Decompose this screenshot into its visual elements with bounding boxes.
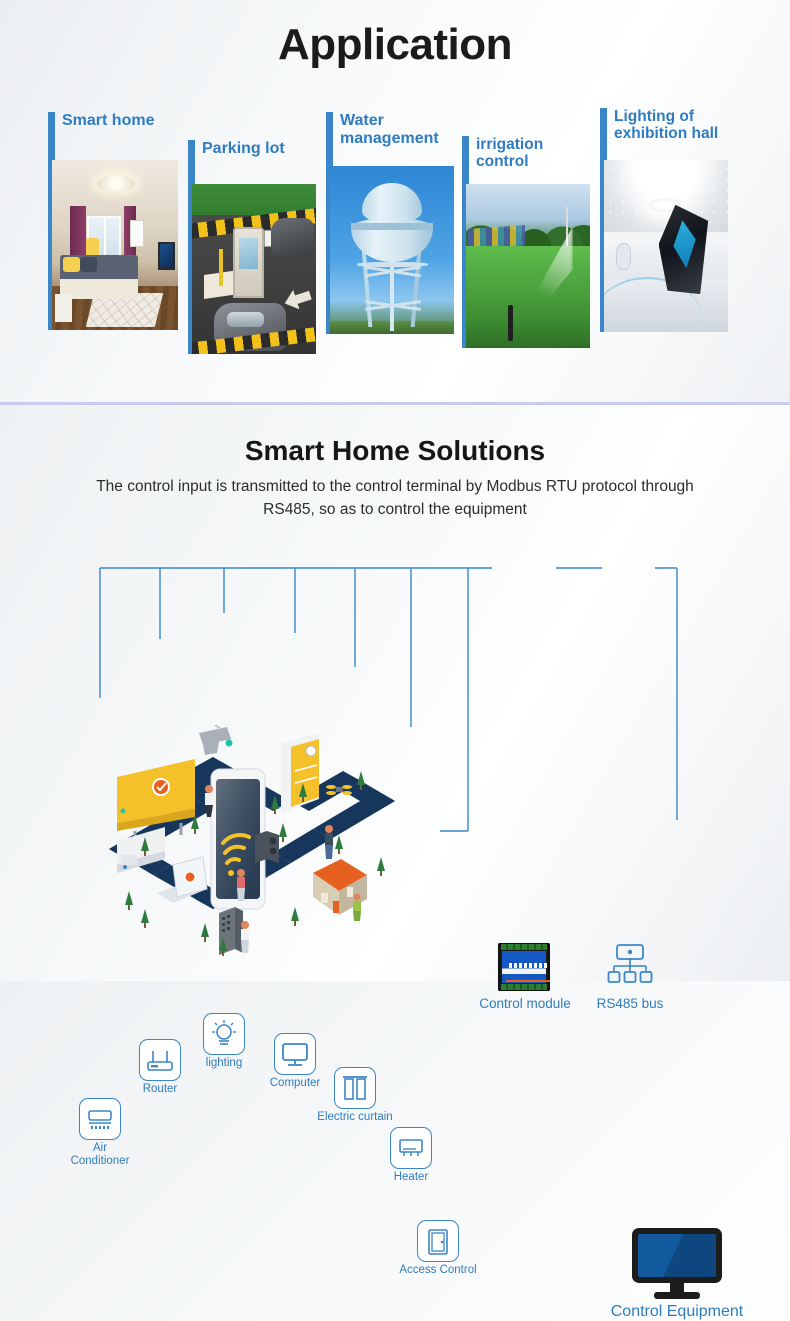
node-label: Router	[90, 1083, 230, 1096]
node-air-conditioner[interactable]: Air Conditioner	[79, 1098, 121, 1140]
application-card-irrigation-control[interactable]: irrigation control	[462, 136, 590, 348]
node-computer[interactable]: Computer	[274, 1033, 316, 1075]
card-label: Lighting of exhibition hall	[614, 108, 718, 143]
smart-home-solutions-section: Smart Home Solutions The control input i…	[0, 405, 790, 981]
node-label: Air Conditioner	[30, 1142, 170, 1168]
parking-lot-barrier-photo	[192, 184, 316, 354]
card-label: Parking lot	[202, 140, 285, 158]
water-tower-photo	[330, 166, 454, 334]
application-card-water-management[interactable]: Water management	[326, 112, 454, 334]
heater-icon	[390, 1127, 432, 1169]
node-label: lighting	[154, 1057, 294, 1070]
monitor-icon[interactable]	[632, 1228, 722, 1300]
node-heater[interactable]: Heater	[390, 1127, 432, 1169]
isometric-illustration	[95, 725, 405, 960]
exhibition-hall-interior-photo	[604, 160, 728, 332]
page-title: Application	[0, 20, 790, 70]
node-label: Electric curtain	[285, 1111, 425, 1124]
card-label: irrigation control	[476, 136, 543, 171]
application-card-parking-lot[interactable]: Parking lot	[188, 140, 316, 354]
node-electric-curtain[interactable]: Electric curtain	[334, 1067, 376, 1109]
light-bulb-icon	[203, 1013, 245, 1055]
smart-home-bedroom-photo	[52, 160, 178, 330]
card-label: Smart home	[62, 112, 154, 130]
node-label: Access Control	[343, 1264, 533, 1277]
curtain-icon	[334, 1067, 376, 1109]
node-access-control[interactable]: Access Control	[417, 1220, 459, 1262]
node-label: Heater	[341, 1171, 481, 1184]
relay-module-device[interactable]	[498, 943, 550, 991]
isometric-smart-city-scene	[95, 725, 405, 960]
network-bus-icon	[605, 943, 655, 987]
rs485-bus-label: RS485 bus	[575, 996, 685, 1011]
control-equipment-label: Control Equipment	[592, 1303, 762, 1321]
application-card-exhibition-lighting[interactable]: Lighting of exhibition hall	[600, 108, 728, 332]
air-conditioner-icon	[79, 1098, 121, 1140]
control-module-label: Control module	[460, 996, 590, 1011]
node-lighting[interactable]: lighting	[203, 1013, 245, 1055]
card-label: Water management	[340, 112, 439, 148]
application-section: Application Smart home Parking lot	[0, 0, 790, 402]
desktop-monitor-icon	[274, 1033, 316, 1075]
lawn-sprinkler-photo	[466, 184, 590, 348]
application-card-smart-home[interactable]: Smart home	[48, 112, 178, 330]
door-access-icon	[417, 1220, 459, 1262]
